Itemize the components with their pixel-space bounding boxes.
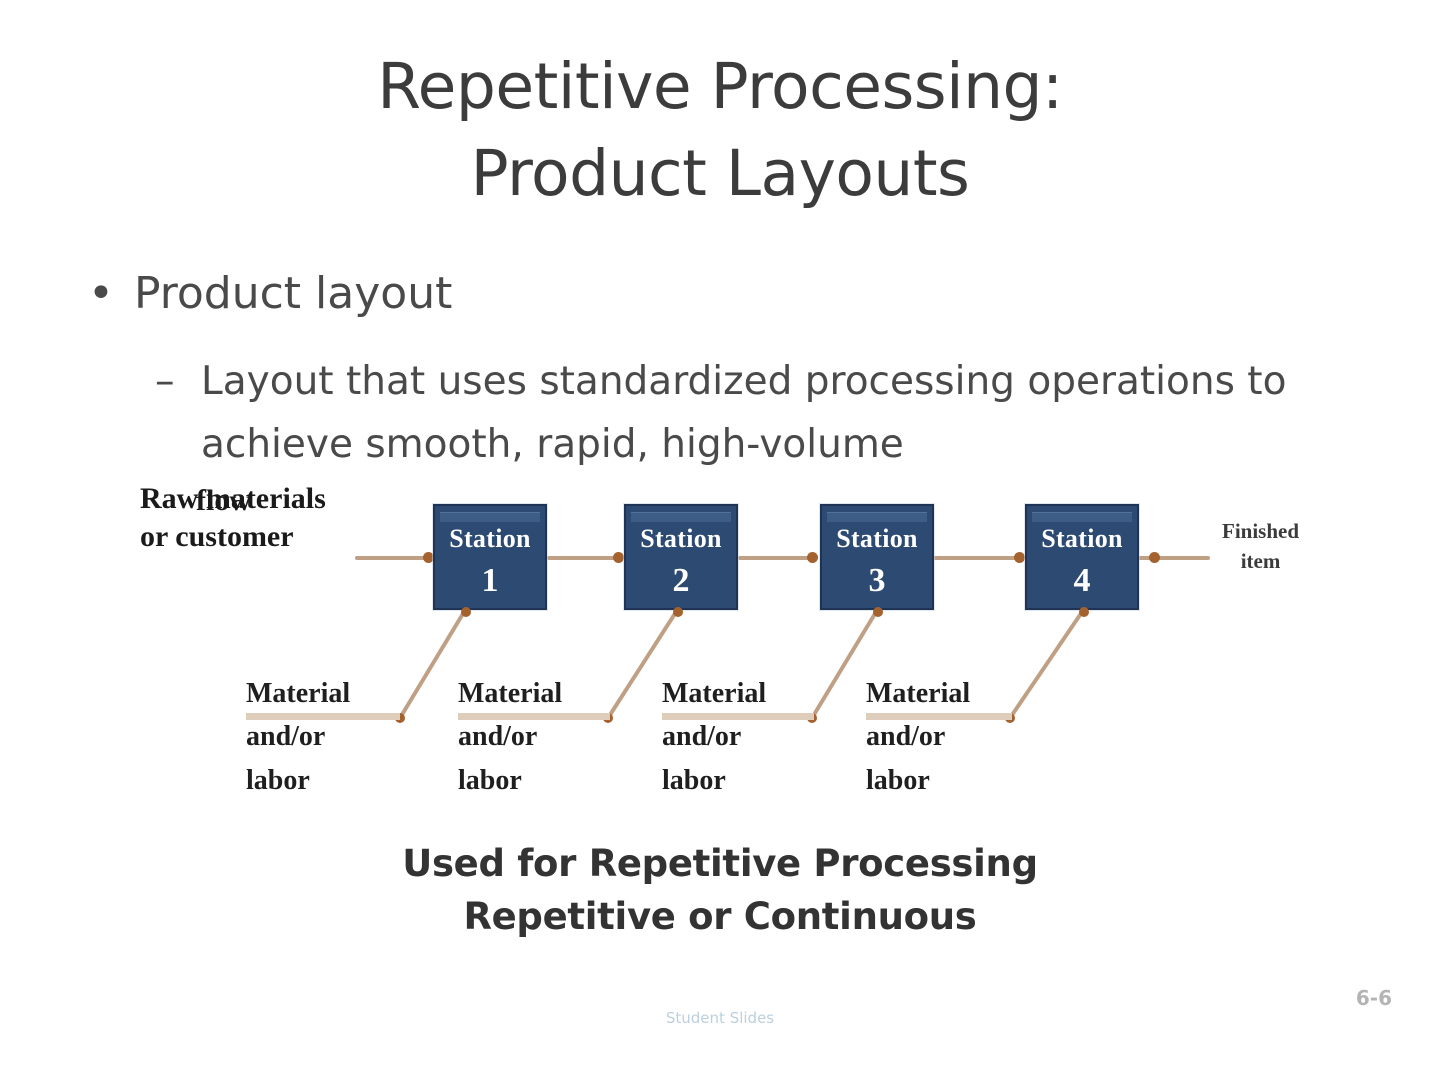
material-label-4-line-2: and/or xyxy=(866,715,970,758)
feed-arrowhead-3 xyxy=(873,607,883,617)
material-label-2: Material and/or labor xyxy=(458,672,562,802)
page-number: 6-6 xyxy=(1356,986,1392,1010)
slide-canvas: Repetitive Processing: Product Layouts •… xyxy=(0,0,1440,1078)
material-label-1-line-2: and/or xyxy=(246,715,350,758)
feed-line-1 xyxy=(400,612,464,718)
footer-note: Student Slides xyxy=(0,1009,1440,1027)
material-label-2-line-2: and/or xyxy=(458,715,562,758)
material-label-3: Material and/or labor xyxy=(662,672,766,802)
material-label-1: Material and/or labor xyxy=(246,672,350,802)
material-label-2-line-1: Material xyxy=(458,672,562,715)
caption-line-1: Used for Repetitive Processing xyxy=(0,838,1440,891)
feed-arrowhead-4 xyxy=(1079,607,1089,617)
material-label-1-line-1: Material xyxy=(246,672,350,715)
diagram-caption: Used for Repetitive Processing Repetitiv… xyxy=(0,838,1440,943)
material-label-4: Material and/or labor xyxy=(866,672,970,802)
material-label-4-line-1: Material xyxy=(866,672,970,715)
feed-line-4 xyxy=(1010,612,1082,718)
caption-line-2: Repetitive or Continuous xyxy=(0,891,1440,944)
material-label-2-line-3: labor xyxy=(458,759,562,802)
material-label-4-line-3: labor xyxy=(866,759,970,802)
feed-arrowhead-1 xyxy=(461,607,471,617)
feed-arrowhead-2 xyxy=(673,607,683,617)
material-label-3-line-1: Material xyxy=(662,672,766,715)
material-label-1-line-3: labor xyxy=(246,759,350,802)
material-label-3-line-2: and/or xyxy=(662,715,766,758)
material-label-3-line-3: labor xyxy=(662,759,766,802)
